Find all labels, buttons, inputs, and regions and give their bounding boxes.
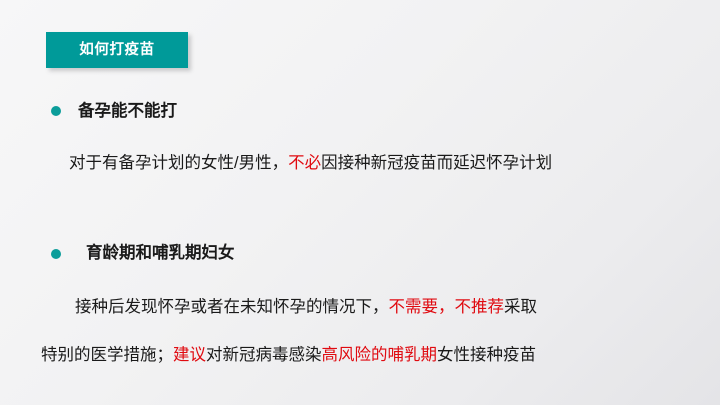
text-run: 因接种新冠疫苗而延迟怀孕计划 bbox=[321, 154, 552, 172]
bullet-item-1-label: 备孕能不能打 bbox=[78, 103, 177, 120]
text-run: 女性接种疫苗 bbox=[437, 346, 536, 364]
text-run: 对新冠病毒感染 bbox=[206, 346, 322, 364]
bullet-2-paragraph-line-1: 接种后发现怀孕或者在未知怀孕的情况下，不需要，不推荐采取 bbox=[0, 299, 720, 316]
slide-canvas: 如何打疫苗 备孕能不能打 对于有备孕计划的女性/男性，不必因接种新冠疫苗而延迟怀… bbox=[0, 0, 720, 405]
highlight-text-run: 建议 bbox=[173, 346, 206, 364]
bullet-dot-icon bbox=[51, 249, 61, 259]
bullet-item-2: 育龄期和哺乳期妇女 bbox=[0, 239, 720, 269]
highlight-text-run: 不必 bbox=[288, 154, 321, 172]
bullet-item-1: 备孕能不能打 bbox=[0, 96, 720, 126]
text-run: 采取 bbox=[504, 298, 537, 316]
text-run: 对于有备孕计划的女性/男性， bbox=[69, 154, 288, 172]
slide-content: 备孕能不能打 对于有备孕计划的女性/男性，不必因接种新冠疫苗而延迟怀孕计划 育龄… bbox=[0, 96, 720, 364]
bullet-2-paragraph-line-2: 特别的医学措施；建议对新冠病毒感染高风险的哺乳期女性接种疫苗 bbox=[0, 347, 720, 364]
slide-title-text: 如何打疫苗 bbox=[79, 43, 155, 58]
text-run: 接种后发现怀孕或者在未知怀孕的情况下， bbox=[75, 298, 389, 316]
bullet-item-2-label: 育龄期和哺乳期妇女 bbox=[86, 245, 235, 262]
bullet-1-paragraph-line-1: 对于有备孕计划的女性/男性，不必因接种新冠疫苗而延迟怀孕计划 bbox=[0, 155, 720, 172]
text-run: 特别的医学措施； bbox=[41, 346, 173, 364]
highlight-text-run: 不需要，不推荐 bbox=[389, 298, 505, 316]
highlight-text-run: 高风险的哺乳期 bbox=[322, 346, 438, 364]
slide-title-badge: 如何打疫苗 bbox=[46, 32, 188, 68]
bullet-dot-icon bbox=[51, 106, 61, 116]
